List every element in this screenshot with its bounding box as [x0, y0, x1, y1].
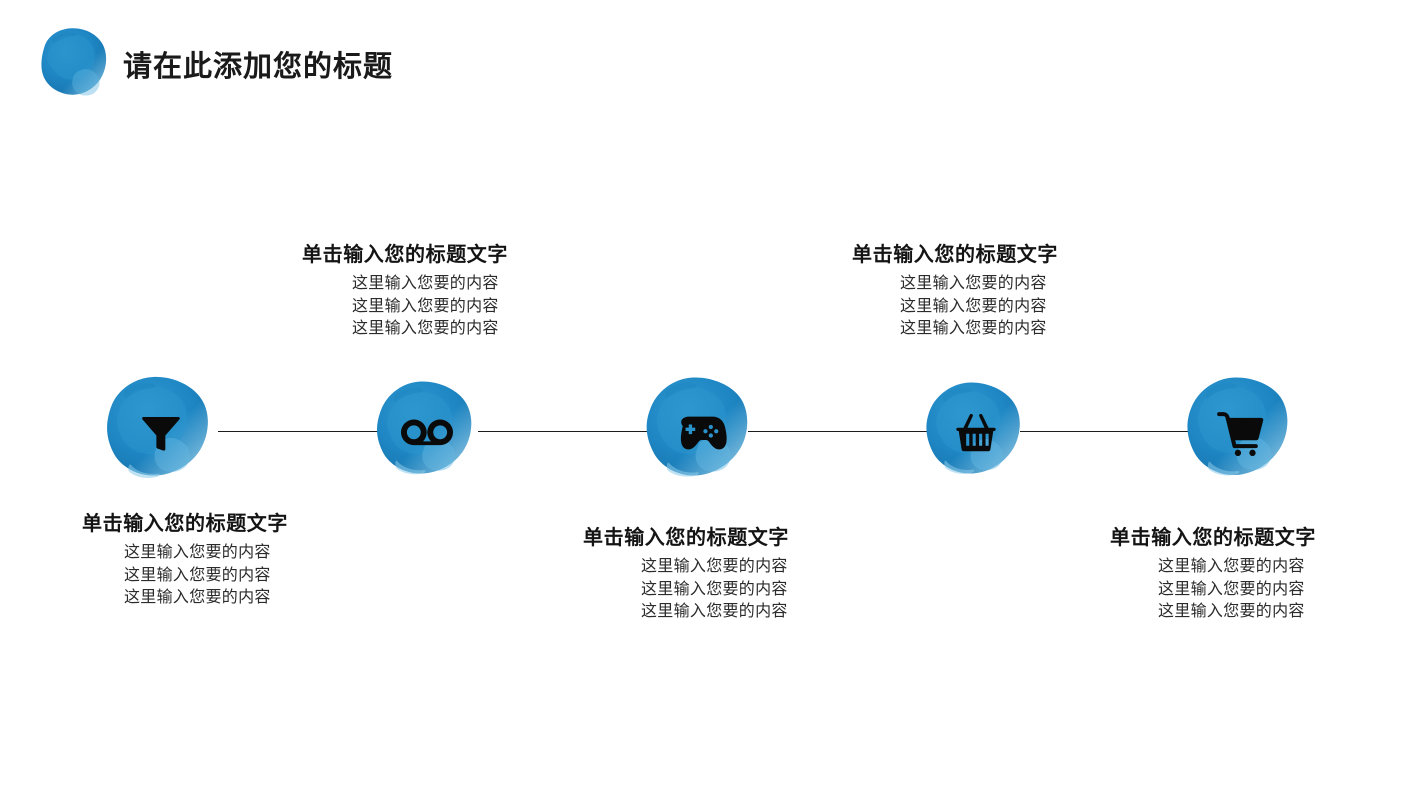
node-line: 这里输入您要的内容: [1158, 579, 1427, 602]
node-title-4: 单击输入您的标题文字: [852, 241, 1182, 269]
timeline-node-1[interactable]: [95, 373, 225, 491]
node-line: 这里输入您要的内容: [1158, 556, 1427, 579]
timeline-node-4[interactable]: [918, 379, 1034, 487]
node-text-block-5: 单击输入您的标题文字 这里输入您要的内容 这里输入您要的内容 这里输入您要的内容: [1110, 524, 1427, 624]
node-text-block-3: 单击输入您的标题文字 这里输入您要的内容 这里输入您要的内容 这里输入您要的内容: [583, 524, 913, 624]
node-title-5: 单击输入您的标题文字: [1110, 524, 1427, 552]
node-line: 这里输入您要的内容: [900, 318, 1182, 341]
node-line: 这里输入您要的内容: [124, 565, 412, 588]
node-line: 这里输入您要的内容: [641, 601, 913, 624]
slide-canvas: 请在此添加您的标题: [0, 0, 1427, 802]
timeline-node-3[interactable]: [637, 374, 765, 491]
node-title-1: 单击输入您的标题文字: [82, 510, 412, 538]
node-line: 这里输入您要的内容: [352, 318, 632, 341]
node-line: 这里输入您要的内容: [641, 556, 913, 579]
node-line: 这里输入您要的内容: [900, 296, 1182, 319]
node-text-block-4: 单击输入您的标题文字 这里输入您要的内容 这里输入您要的内容 这里输入您要的内容: [852, 241, 1182, 341]
node-title-3: 单击输入您的标题文字: [583, 524, 913, 552]
node-lines-4: 这里输入您要的内容 这里输入您要的内容 这里输入您要的内容: [852, 273, 1182, 341]
timeline-node-5[interactable]: [1177, 374, 1305, 491]
node-line: 这里输入您要的内容: [352, 273, 632, 296]
node-text-block-1: 单击输入您的标题文字 这里输入您要的内容 这里输入您要的内容 这里输入您要的内容: [82, 510, 412, 610]
timeline-node-2[interactable]: [368, 378, 486, 488]
node-lines-1: 这里输入您要的内容 这里输入您要的内容 这里输入您要的内容: [82, 542, 412, 610]
timeline-diagram: 单击输入您的标题文字 这里输入您要的内容 这里输入您要的内容 这里输入您要的内容…: [0, 0, 1427, 802]
node-lines-2: 这里输入您要的内容 这里输入您要的内容 这里输入您要的内容: [302, 273, 632, 341]
node-title-2: 单击输入您的标题文字: [302, 241, 632, 269]
timeline-connector-3: [748, 431, 944, 432]
node-line: 这里输入您要的内容: [1158, 601, 1427, 624]
node-text-block-2: 单击输入您的标题文字 这里输入您要的内容 这里输入您要的内容 这里输入您要的内容: [302, 241, 632, 341]
node-line: 这里输入您要的内容: [124, 587, 412, 610]
node-line: 这里输入您要的内容: [900, 273, 1182, 296]
node-lines-3: 这里输入您要的内容 这里输入您要的内容 这里输入您要的内容: [583, 556, 913, 624]
node-line: 这里输入您要的内容: [641, 579, 913, 602]
node-lines-5: 这里输入您要的内容 这里输入您要的内容 这里输入您要的内容: [1110, 556, 1427, 624]
node-line: 这里输入您要的内容: [124, 542, 412, 565]
node-line: 这里输入您要的内容: [352, 296, 632, 319]
